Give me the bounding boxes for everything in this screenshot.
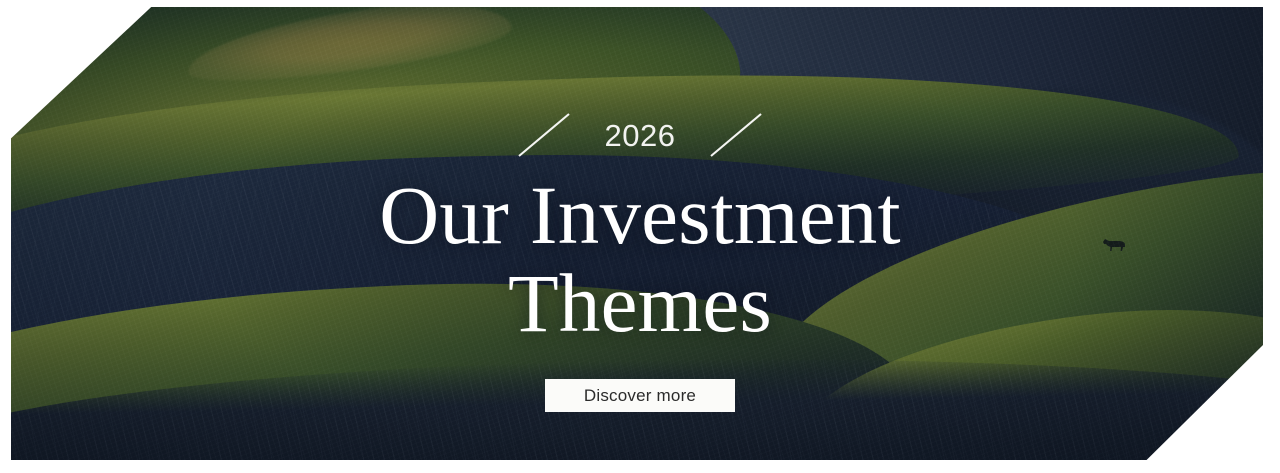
hero-banner: 2026 Our Investment Themes Discover more xyxy=(0,0,1280,473)
discover-more-button[interactable]: Discover more xyxy=(545,379,735,412)
